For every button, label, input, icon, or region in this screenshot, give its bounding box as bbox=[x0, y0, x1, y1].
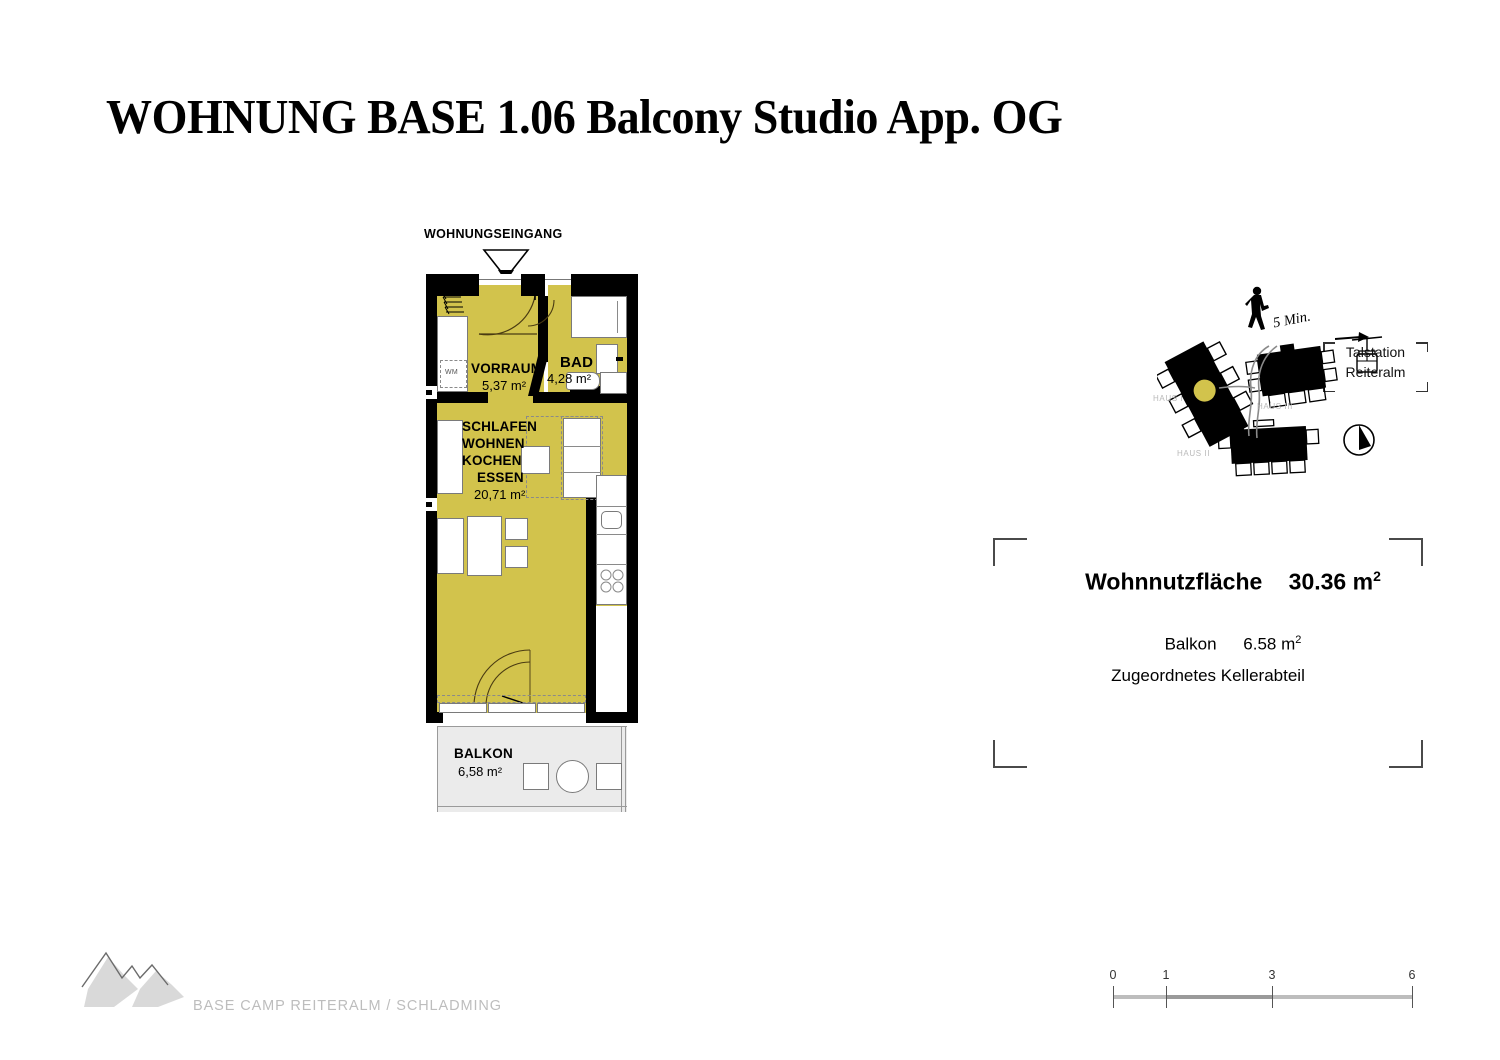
living-area-label: Wohnnutzfläche bbox=[1085, 569, 1262, 595]
room-area-bad: 4,28 m² bbox=[547, 371, 591, 386]
partition-vorraum-bottom bbox=[437, 392, 488, 403]
window-mullion-left-1 bbox=[426, 390, 432, 395]
balcony-area-label: Balkon bbox=[1165, 635, 1217, 654]
corner-bracket-tl bbox=[993, 538, 1027, 566]
wall-top-right bbox=[571, 285, 627, 296]
living-area-sup: 2 bbox=[1373, 568, 1381, 584]
page-title: WOHNUNG BASE 1.06 Balcony Studio App. OG bbox=[106, 86, 1281, 148]
washing-machine-label: WM bbox=[445, 369, 458, 376]
dining-table bbox=[521, 446, 550, 474]
balcony-outline-left bbox=[437, 726, 438, 812]
floor-plan: WM bbox=[420, 268, 644, 824]
corner-bracket-br bbox=[1389, 740, 1423, 768]
compass-north-icon bbox=[1341, 422, 1377, 458]
bed-main bbox=[467, 516, 502, 576]
glazing-dashed bbox=[437, 695, 586, 703]
pedestrian-icon bbox=[1243, 286, 1275, 332]
room-area-vorraum: 5,37 m² bbox=[482, 378, 526, 393]
room-label-bad: BAD bbox=[560, 355, 593, 370]
room-label-wohnen: WOHNEN bbox=[462, 436, 525, 451]
area-info-panel: Wohnnutzfläche 30.36 m2 Balkon 6.58 m2 Z… bbox=[993, 538, 1423, 768]
scale-segment-0-1 bbox=[1113, 995, 1166, 999]
bed-left bbox=[437, 518, 464, 574]
scale-number-3: 3 bbox=[1269, 968, 1276, 982]
room-area-main: 20,71 m² bbox=[474, 487, 525, 502]
nightstand-upper bbox=[505, 518, 528, 540]
site-label-haus-2: HAUS II bbox=[1177, 449, 1210, 458]
corner-bracket-tr bbox=[1389, 538, 1423, 566]
room-label-balkon: BALKON bbox=[454, 746, 513, 761]
station-corner-br bbox=[1416, 382, 1428, 392]
sink-tap-icon bbox=[616, 354, 625, 364]
site-paths bbox=[1205, 340, 1335, 450]
balcony-chair-right bbox=[596, 763, 622, 790]
brand-logo-text: BASE CAMP REITERALM / SCHLADMING bbox=[193, 998, 502, 1014]
balcony-area-sup: 2 bbox=[1295, 634, 1301, 646]
wall-bottom-left bbox=[426, 712, 443, 723]
site-label-haus-3: HAUS III bbox=[1257, 402, 1293, 411]
wall-top-outer bbox=[437, 274, 627, 285]
kitchen-wall-vertical bbox=[586, 464, 596, 712]
scale-number-0: 0 bbox=[1110, 968, 1117, 982]
shelf-left-upper bbox=[437, 420, 463, 494]
counter-line-1 bbox=[596, 506, 627, 507]
nightstand-lower bbox=[505, 546, 528, 568]
walk-time-label: 5 Min. bbox=[1272, 309, 1312, 333]
balcony-area-value: 6.58 m bbox=[1243, 635, 1295, 654]
balcony-table bbox=[556, 760, 589, 793]
scale-tick-1 bbox=[1166, 986, 1167, 1008]
bathroom-door-swing bbox=[524, 298, 558, 330]
balcony-chair-left bbox=[523, 763, 549, 790]
balcony-area-row: Balkon 6.58 m2 bbox=[1073, 634, 1393, 655]
balcony-outline-top bbox=[437, 726, 627, 727]
bath-cabinet bbox=[600, 372, 627, 394]
scale-tick-3 bbox=[1272, 986, 1273, 1008]
wall-right bbox=[627, 274, 638, 723]
scale-bar: 0 1 3 6 bbox=[1105, 968, 1425, 1023]
scale-number-6: 6 bbox=[1409, 968, 1416, 982]
living-area-value: 30.36 m bbox=[1289, 569, 1373, 595]
mountain-logo-icon bbox=[80, 945, 200, 1015]
room-area-balkon: 6,58 m² bbox=[458, 764, 502, 779]
window-mullion-left-2 bbox=[426, 502, 432, 507]
scale-number-1: 1 bbox=[1163, 968, 1170, 982]
closet-hatch-icon bbox=[440, 290, 466, 318]
site-label-haus-1: HAUS I bbox=[1153, 394, 1183, 403]
sink-bad bbox=[596, 344, 618, 374]
scale-tick-6 bbox=[1412, 986, 1413, 1008]
room-label-essen: ESSEN bbox=[477, 470, 524, 485]
brand-logo: BASE CAMP REITERALM / SCHLADMING bbox=[80, 945, 480, 1025]
living-area-row: Wohnnutzfläche 30.36 m2 bbox=[1073, 568, 1393, 596]
room-label-vorraum: VORRAUM bbox=[471, 361, 542, 376]
glazing-panel-3 bbox=[537, 703, 585, 713]
room-label-schlafen: SCHLAFEN bbox=[462, 419, 537, 434]
cellar-row: Zugeordnetes Kellerabteil bbox=[1023, 666, 1393, 686]
kitchen-sink-icon bbox=[601, 511, 622, 529]
scale-tick-0 bbox=[1113, 986, 1114, 1008]
entrance-label: WOHNUNGSEINGANG bbox=[424, 227, 563, 241]
shower-divider bbox=[617, 301, 618, 333]
wall-bottom-right bbox=[586, 712, 638, 723]
balcony-railing bbox=[625, 726, 626, 812]
room-label-kochen: KOCHEN bbox=[462, 453, 522, 468]
counter-line-2 bbox=[596, 534, 627, 535]
glazing-panel-1 bbox=[439, 703, 487, 713]
window-top-2-line bbox=[545, 279, 571, 280]
scale-segment-1-3 bbox=[1166, 995, 1272, 999]
glazing-panel-2 bbox=[488, 703, 536, 713]
corner-bracket-bl bbox=[993, 740, 1027, 768]
cooktop-icon bbox=[599, 568, 625, 594]
counter-line-3 bbox=[596, 564, 627, 565]
balcony-outline-bottom bbox=[437, 806, 627, 807]
scale-segment-3-6 bbox=[1272, 995, 1412, 999]
shower-bad bbox=[571, 296, 627, 338]
site-plan: 5 Min. Talstation Reiteralm bbox=[1145, 282, 1440, 487]
window-top-1-line bbox=[479, 279, 521, 280]
